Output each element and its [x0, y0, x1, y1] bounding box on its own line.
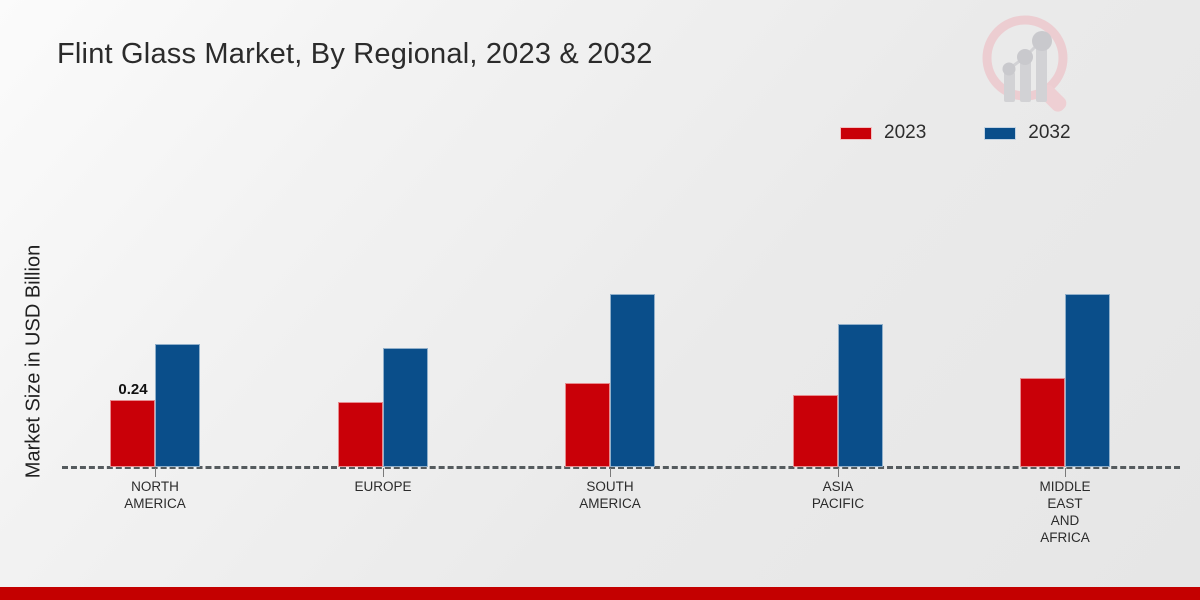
x-label-europe: EUROPE	[323, 478, 443, 495]
bar-2023-south-america[interactable]	[565, 383, 610, 467]
bar-2023-asia-pacific[interactable]	[793, 395, 838, 467]
x-tick-middle-east-and-africa	[1065, 468, 1066, 477]
bar-2023-europe[interactable]	[338, 402, 383, 467]
x-tick-north-america	[155, 468, 156, 477]
bar-2023-middle-east-and-africa[interactable]	[1020, 378, 1065, 467]
bar-value-label-north-america-2023: 0.24	[104, 381, 162, 398]
x-label-asia-pacific: ASIA PACIFIC	[778, 478, 898, 512]
x-tick-asia-pacific	[838, 468, 839, 477]
x-tick-south-america	[610, 468, 611, 477]
plot-area: 0.24 NORTH AMERICA EUROPE SOUTH AMERICA …	[0, 0, 1200, 600]
bar-2032-north-america[interactable]	[155, 344, 200, 467]
chart-canvas: Flint Glass Market, By Regional, 2023 & …	[0, 0, 1200, 600]
bar-2032-asia-pacific[interactable]	[838, 324, 883, 467]
x-label-middle-east-and-africa: MIDDLE EAST AND AFRICA	[1005, 478, 1125, 546]
bar-2032-europe[interactable]	[383, 348, 428, 467]
x-label-north-america: NORTH AMERICA	[95, 478, 215, 512]
bar-2032-south-america[interactable]	[610, 294, 655, 467]
bottom-accent-stripe	[0, 587, 1200, 600]
bar-2032-middle-east-and-africa[interactable]	[1065, 294, 1110, 467]
bar-2023-north-america[interactable]	[110, 400, 155, 467]
x-tick-europe	[383, 468, 384, 477]
x-label-south-america: SOUTH AMERICA	[550, 478, 670, 512]
